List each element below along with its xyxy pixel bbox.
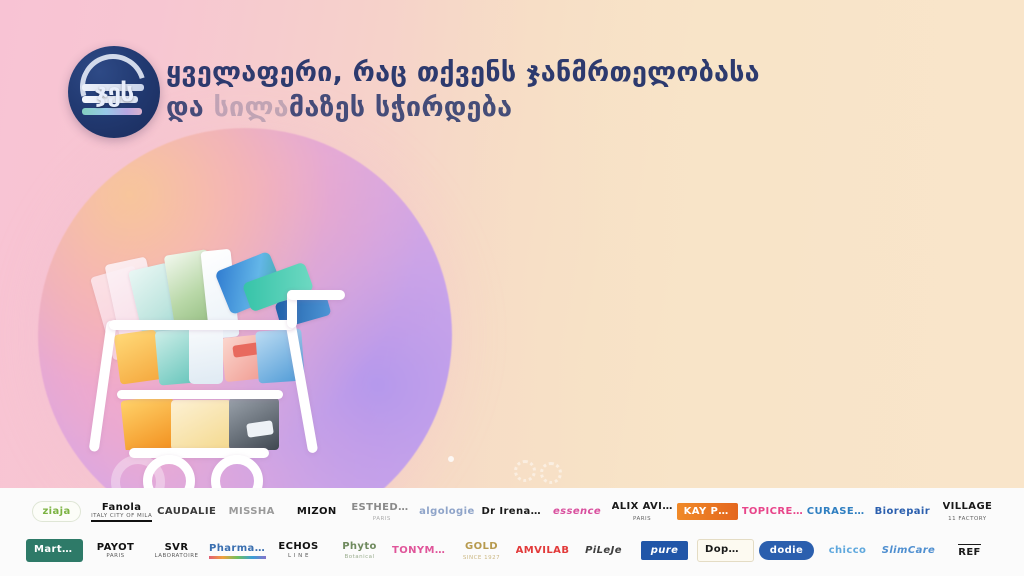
headline-line-2-faded: სილა — [213, 92, 288, 123]
brand-logo-fanola[interactable]: FanolaITALY CITY OF MILAN — [89, 495, 154, 529]
shopping-cart-illustration — [95, 250, 345, 475]
headline-line-1: ყველაფერი, რაც თქვენს ჯანმრთელობასა — [166, 56, 866, 91]
brand-logo-label: AMVILAB — [516, 545, 570, 556]
brand-logo-gold-seal-brand[interactable]: GOLDSINCE 1927 — [451, 534, 512, 568]
brand-logo-dr-irena-eris[interactable]: Dr Irena Eris — [479, 495, 544, 529]
headline-line-2-prefix: და — [166, 92, 213, 123]
cart-handle — [287, 290, 345, 300]
brand-logo-phyto-botanical[interactable]: PhytoBotanical — [329, 534, 390, 568]
brand-logo-tonymoly[interactable]: TONYMOLY — [390, 534, 451, 568]
brand-logo-sublabel: PARIS — [351, 515, 412, 523]
brand-logo-label: TONYMOLY — [392, 545, 449, 556]
brand-logo-label: dodie — [759, 541, 814, 560]
brand-logo-label: GOLDSINCE 1927 — [463, 539, 500, 562]
brand-logo-label: REF — [958, 544, 981, 558]
brand-logo-missha[interactable]: MISSHA — [219, 495, 284, 529]
brand-logo-label: MISSHA — [229, 506, 275, 517]
brand-logo-alix-avien[interactable]: ALIX AVIENPARIS — [610, 495, 675, 529]
brand-logo-sublabel: PARIS — [97, 553, 134, 559]
brand-logo-slimcare[interactable]: SlimCare — [878, 534, 939, 568]
headline-line-2: და სილამაზეს სჭირდება — [166, 91, 866, 126]
brand-logo-algologie[interactable]: algologie — [414, 495, 479, 529]
cart-frame-rail — [109, 320, 295, 330]
cart-frame-side — [285, 320, 318, 454]
hero-banner: ჯეს ყველაფერი, რაც თქვენს ჯანმრთელობასა … — [0, 0, 1024, 488]
brand-logo-label: Marti Derm — [26, 539, 83, 562]
brand-logo-curasept[interactable]: CURASEPT — [805, 495, 870, 529]
brand-logo-label: Dr Irena Eris — [481, 506, 542, 517]
cart-wheel — [211, 455, 263, 488]
page-title: ყველაფერი, რაც თქვენს ჯანმრთელობასა და ს… — [166, 56, 866, 125]
brand-logo-label: FanolaITALY CITY OF MILAN — [91, 502, 152, 522]
brand-logo-label: pure — [641, 541, 689, 560]
logo-mark-text: ჯეს — [68, 46, 160, 138]
brand-logo-esthederm[interactable]: ESTHEDERMPARIS — [349, 495, 414, 529]
brand-logo-svr[interactable]: SVRLABORATOIRE — [146, 534, 207, 568]
headline-line-2-rest: მაზეს სჭირდება — [289, 92, 512, 123]
brand-logo-kay-pro[interactable]: KAY PRO — [675, 495, 740, 529]
brand-logo-label: SlimCare — [882, 545, 935, 556]
brand-logo-label: SVRLABORATOIRE — [155, 542, 199, 559]
brand-logo-pileje[interactable]: PiLeJe — [573, 534, 634, 568]
brand-logo-label: ESTHEDERMPARIS — [351, 500, 412, 523]
brand-logo-label: Pharmaceris — [209, 543, 266, 559]
brand-logo-pure[interactable]: pure — [634, 534, 695, 568]
brand-logo-sublabel: PARIS — [612, 515, 673, 524]
brand-logo-doppelherz[interactable]: Doppel herz — [695, 534, 756, 568]
brand-logo-chicco[interactable]: chicco — [817, 534, 878, 568]
brand-logo-sublabel: LABORATOIRE — [155, 553, 199, 559]
brand-logo-mizon[interactable]: MIZON — [284, 495, 349, 529]
brand-logo-label: ziaja — [32, 501, 80, 522]
brand-logo-label: Doppel herz — [697, 539, 754, 562]
ghost-cart-icon — [514, 442, 560, 486]
brand-logo-biorepair[interactable]: Biorepair — [870, 495, 935, 529]
brand-logo-label: MIZON — [297, 506, 337, 517]
brand-logo-row-1: ziajaFanolaITALY CITY OF MILANCAUDALIEMI… — [24, 492, 1000, 531]
brand-logo-label: algologie — [419, 506, 474, 517]
brand-logo-echos-line[interactable]: ECHOSL I N E — [268, 534, 329, 568]
brand-logo-label: essence — [553, 506, 601, 517]
brand-logo-sublabel: Botanical — [342, 554, 377, 561]
brand-logo-pharmaceris[interactable]: Pharmaceris — [207, 534, 268, 568]
brand-logo-ziaja[interactable]: ziaja — [24, 495, 89, 529]
decorative-dot — [448, 456, 454, 462]
brand-logo-label: PhytoBotanical — [342, 540, 377, 561]
ghost-wheel — [540, 462, 562, 484]
brand-logo-topicrem[interactable]: TOPICREM — [740, 495, 805, 529]
cart-frame — [95, 250, 345, 475]
brand-logo-label: CAUDALIE — [157, 506, 216, 517]
brand-logo-label: PAYOTPARIS — [97, 542, 134, 559]
cart-frame-rail — [117, 390, 283, 399]
brand-logo-village[interactable]: VILLAGE11 FACTORY — [935, 495, 1000, 529]
brand-logo-label: ECHOSL I N E — [278, 540, 318, 560]
brand-logo-ref[interactable]: REF — [939, 534, 1000, 568]
brand-logo-label: CURASEPT — [807, 506, 868, 517]
brand-logo-sublabel: SINCE 1927 — [463, 554, 500, 562]
brand-logo-amvilab[interactable]: AMVILAB — [512, 534, 573, 568]
brand-logo-sublabel: L I N E — [278, 553, 318, 560]
ghost-wheel — [514, 460, 536, 482]
brand-logo-caudalie[interactable]: CAUDALIE — [154, 495, 219, 529]
brand-logo-sublabel: ITALY CITY OF MILAN — [91, 513, 152, 519]
brand-logo-label: ALIX AVIENPARIS — [612, 499, 673, 524]
brand-logo-payot[interactable]: PAYOTPARIS — [85, 534, 146, 568]
brand-logo-label: KAY PRO — [677, 503, 738, 520]
brand-logo-label: chicco — [829, 545, 867, 556]
brand-logo-label: Biorepair — [875, 506, 931, 517]
brand-logo-dodie[interactable]: dodie — [756, 534, 817, 568]
pharmacy-logo-icon[interactable]: ჯეს — [68, 46, 160, 138]
brand-logo-label: TOPICREM — [742, 506, 803, 517]
brand-logo-strip: ziajaFanolaITALY CITY OF MILANCAUDALIEMI… — [0, 488, 1024, 576]
brand-logo-essence[interactable]: essence — [545, 495, 610, 529]
brand-logo-sublabel: 11 FACTORY — [943, 515, 993, 524]
brand-logo-row-2: Marti DermPAYOTPARISSVRLABORATOIREPharma… — [24, 531, 1000, 570]
brand-logo-martiderm[interactable]: Marti Derm — [24, 534, 85, 568]
brand-logo-label: VILLAGE11 FACTORY — [943, 498, 993, 524]
brand-logo-label: PiLeJe — [585, 545, 622, 556]
